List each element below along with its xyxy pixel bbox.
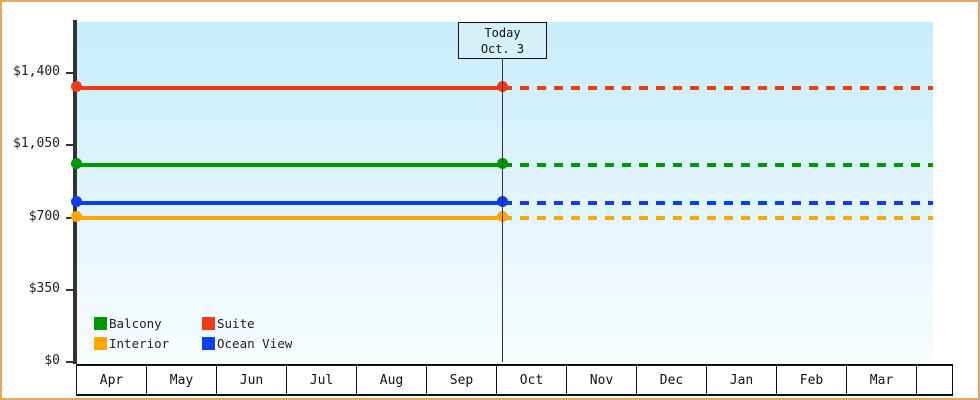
x-axis-cell-oct[interactable]: Oct — [497, 366, 567, 394]
legend-item-suite[interactable]: Suite — [202, 317, 255, 330]
x-axis-cell-may[interactable]: May — [147, 366, 217, 394]
x-axis-cell-feb[interactable]: Feb — [777, 366, 847, 394]
legend-swatch-interior-icon — [94, 337, 107, 350]
x-axis-cell-jun[interactable]: Jun — [217, 366, 287, 394]
x-axis-cell-apr[interactable]: Apr — [77, 366, 147, 394]
y-tick-label-350: $350 — [29, 282, 60, 295]
series-suite-actual-line — [76, 86, 503, 90]
x-axis-cell-jul[interactable]: Jul — [287, 366, 357, 394]
price-forecast-chart: $1,400 $1,050 $700 $350 $0 — [0, 0, 980, 400]
series-ocean-view-forecast-line — [503, 201, 933, 205]
legend-item-interior[interactable]: Interior — [94, 337, 192, 350]
today-callout: Today Oct. 3 — [458, 22, 547, 59]
legend-swatch-balcony-icon — [94, 317, 107, 330]
x-axis-cell-nov[interactable]: Nov — [567, 366, 637, 394]
legend-label-ocean-view: Ocean View — [217, 337, 292, 350]
series-interior-forecast-line — [503, 216, 933, 220]
legend-item-balcony[interactable]: Balcony — [94, 317, 192, 330]
chart-legend: Balcony Suite Interior Ocean View — [94, 313, 302, 353]
x-axis-cell-overflow[interactable] — [917, 366, 953, 394]
legend-label-balcony: Balcony — [109, 317, 162, 330]
series-suite-marker-start — [71, 81, 82, 92]
series-interior-marker-start — [71, 211, 82, 222]
today-vertical-line — [502, 22, 503, 362]
legend-swatch-suite-icon — [202, 317, 215, 330]
legend-row: Balcony Suite — [94, 313, 302, 333]
x-axis-cell-dec[interactable]: Dec — [637, 366, 707, 394]
y-tick-label-700: $700 — [29, 210, 60, 223]
legend-label-suite: Suite — [217, 317, 255, 330]
y-tick-350 — [66, 289, 74, 291]
y-tick-label-1050: $1,050 — [13, 137, 60, 150]
y-tick-label-0: $0 — [44, 354, 60, 367]
x-axis-cell-sep[interactable]: Sep — [427, 366, 497, 394]
series-ocean-view-marker-start — [71, 196, 82, 207]
today-callout-line1: Today — [459, 25, 546, 41]
legend-row: Interior Ocean View — [94, 333, 302, 353]
legend-item-ocean-view[interactable]: Ocean View — [202, 337, 292, 350]
y-tick-1400 — [66, 72, 74, 74]
x-axis-month-bar: Apr May Jun Jul Aug Sep Oct Nov Dec Jan … — [76, 364, 953, 396]
series-ocean-view-actual-line — [76, 201, 503, 205]
series-balcony-actual-line — [76, 163, 503, 167]
plot-area — [76, 22, 933, 362]
legend-swatch-ocean-view-icon — [202, 337, 215, 350]
y-tick-1050 — [66, 144, 74, 146]
x-axis-cell-aug[interactable]: Aug — [357, 366, 427, 394]
x-axis-cell-mar[interactable]: Mar — [847, 366, 917, 394]
x-axis-cell-jan[interactable]: Jan — [707, 366, 777, 394]
legend-label-interior: Interior — [109, 337, 169, 350]
series-balcony-forecast-line — [503, 163, 933, 167]
series-suite-forecast-line — [503, 86, 933, 90]
today-callout-line2: Oct. 3 — [459, 41, 546, 57]
series-balcony-marker-start — [71, 158, 82, 169]
y-tick-label-1400: $1,400 — [13, 65, 60, 78]
y-tick-0 — [66, 361, 74, 363]
series-interior-actual-line — [76, 216, 503, 220]
